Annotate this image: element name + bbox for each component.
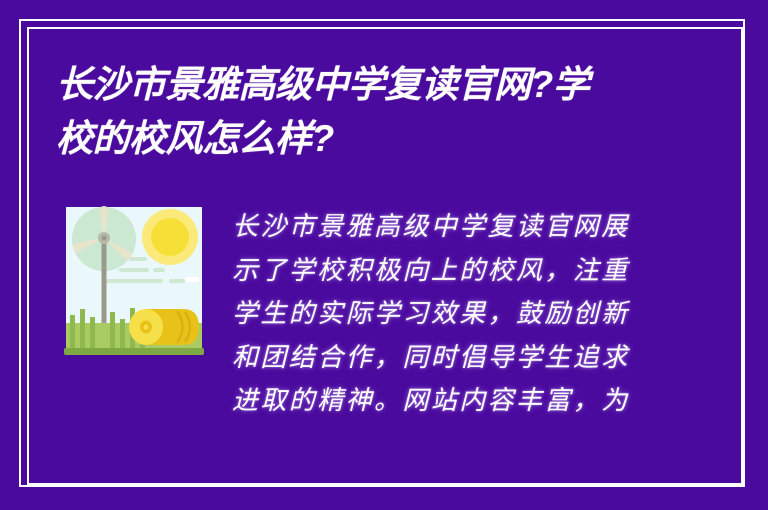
body-line-4: 和团结合作，同时倡导学生追求 — [232, 336, 662, 380]
body-line-3: 学生的实际学习效果，鼓励创新 — [232, 292, 662, 336]
title-line-2: 校的校风怎么样? — [56, 112, 696, 166]
body-line-2: 示了学校积极向上的校风，注重 — [232, 249, 662, 293]
body-line-5: 进取的精神。网站内容丰富，为 — [232, 379, 662, 423]
body-paragraph: 长沙市景雅高级中学复读官网展 示了学校积极向上的校风，注重 学生的实际学习效果，… — [232, 205, 662, 423]
title-line-1: 长沙市景雅高级中学复读官网?学 — [56, 58, 696, 112]
page-title: 长沙市景雅高级中学复读官网?学 校的校风怎么样? — [56, 58, 696, 166]
wind-turbine-farm-illustration — [57, 205, 209, 360]
poster-canvas: 长沙市景雅高级中学复读官网?学 校的校风怎么样? — [0, 0, 768, 510]
body-line-1: 长沙市景雅高级中学复读官网展 — [232, 205, 662, 249]
